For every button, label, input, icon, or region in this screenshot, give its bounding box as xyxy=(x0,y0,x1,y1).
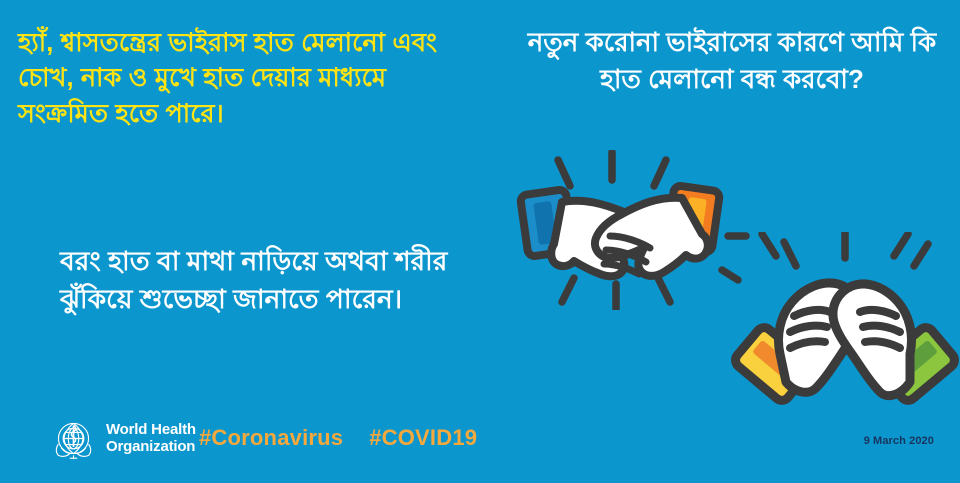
question-heading: নতুন করোনা ভাইরাসের কারণে আমি কি হাত মেল… xyxy=(512,24,952,98)
footer: World Health Organization #Coronavirus #… xyxy=(0,398,960,483)
who-covid19-infographic: হ্যাঁ, শ্বাসতন্ত্রের ভাইরাস হাত মেলানো এ… xyxy=(0,0,960,483)
date-stamp: 9 March 2020 xyxy=(864,435,934,447)
elbow-radiating-lines xyxy=(762,232,928,266)
elbow-illustration xyxy=(728,232,960,422)
handshake-illustration xyxy=(500,150,750,310)
advice-text: বরং হাত বা মাথা নাড়িয়ে অথবা শরীর ঝুঁকি… xyxy=(60,243,510,318)
who-logo: World Health Organization xyxy=(50,415,196,462)
hashtag-group: #Coronavirus #COVID19 xyxy=(199,425,477,451)
who-wordmark-line1: World Health xyxy=(106,422,196,439)
who-wordmark-line2: Organization xyxy=(106,439,196,456)
answer-text: হ্যাঁ, শ্বাসতন্ত্রের ভাইরাস হাত মেলানো এ… xyxy=(18,26,450,132)
who-wordmark: World Health Organization xyxy=(106,422,196,456)
hashtag-coronavirus[interactable]: #Coronavirus xyxy=(199,425,343,451)
who-emblem-icon xyxy=(50,415,97,462)
hashtag-covid19[interactable]: #COVID19 xyxy=(369,425,477,451)
